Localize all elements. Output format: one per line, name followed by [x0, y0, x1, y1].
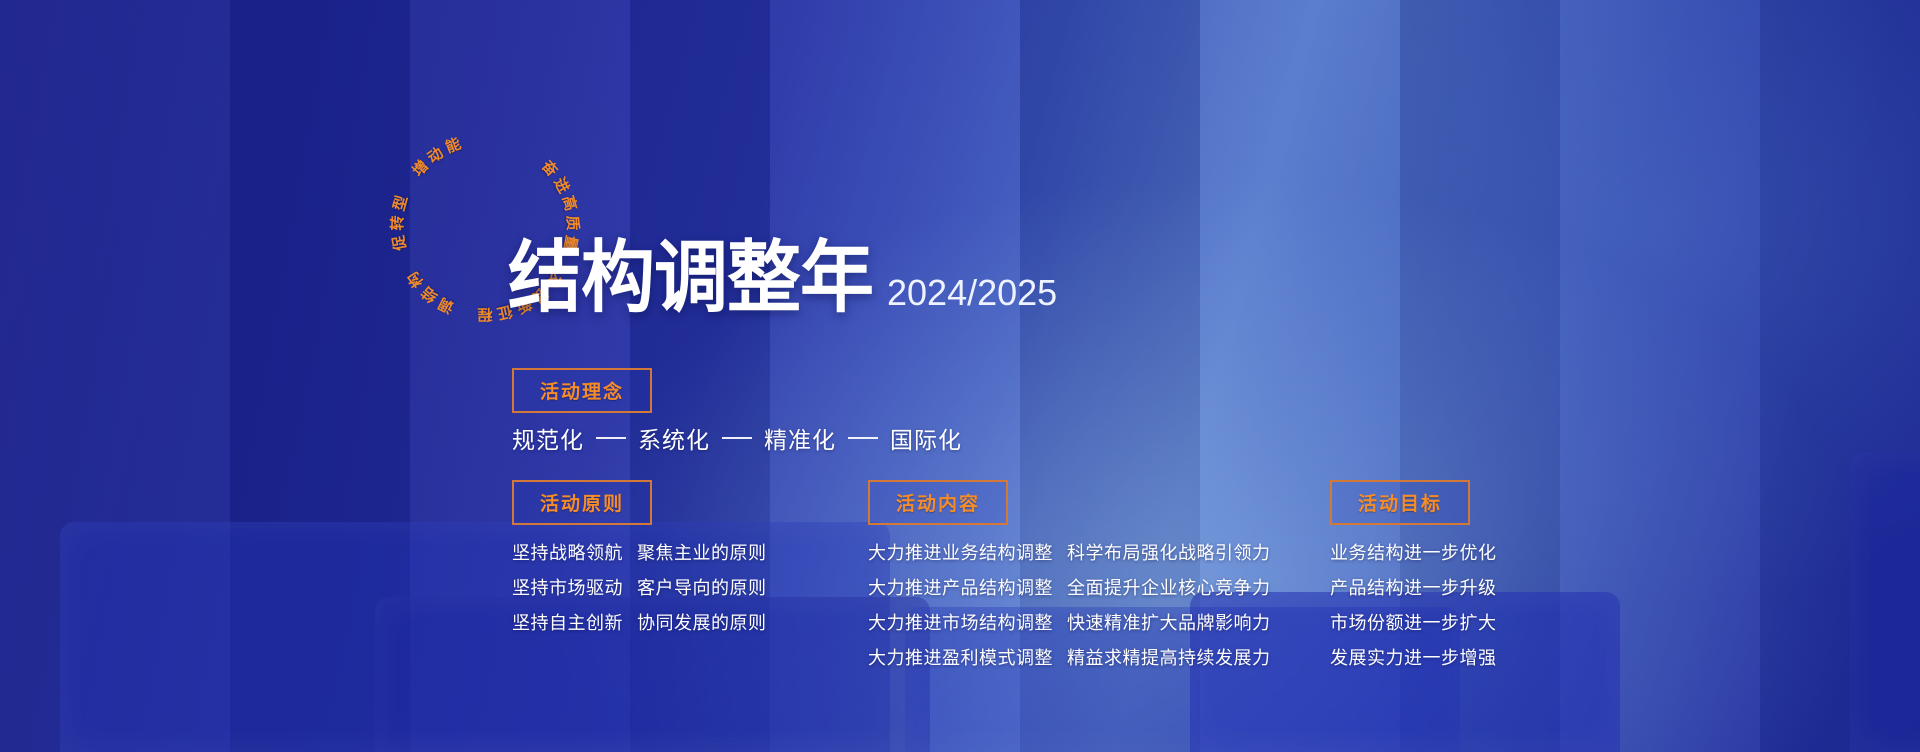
list-item: 坚持市场驱动客户导向的原则	[512, 574, 767, 600]
list-item-primary: 大力推进产品结构调整	[868, 574, 1053, 600]
concept-item: 国际化	[890, 421, 962, 455]
list-item-secondary: 客户导向的原则	[637, 574, 767, 600]
concept-separator	[722, 437, 752, 439]
list-item-primary: 发展实力进一步增强	[1330, 644, 1497, 670]
badge-principles[interactable]: 活动原则	[512, 480, 652, 525]
list-item-secondary: 快速精准扩大品牌影响力	[1067, 609, 1271, 635]
list-item-secondary: 科学布局强化战略引领力	[1067, 539, 1271, 565]
list-item-secondary: 协同发展的原则	[637, 609, 767, 635]
goals-rows: 业务结构进一步优化产品结构进一步升级市场份额进一步扩大发展实力进一步增强	[1330, 539, 1497, 670]
principles-rows: 坚持战略领航聚焦主业的原则坚持市场驱动客户导向的原则坚持自主创新协同发展的原则	[512, 539, 767, 635]
list-item-primary: 坚持自主创新	[512, 609, 623, 635]
concept-separator	[596, 437, 626, 439]
contents-badge-wrap: 活动内容	[868, 480, 1271, 525]
list-item: 发展实力进一步增强	[1330, 644, 1497, 670]
list-item: 大力推进市场结构调整快速精准扩大品牌影响力	[868, 609, 1271, 635]
list-item: 产品结构进一步升级	[1330, 574, 1497, 600]
list-item-primary: 业务结构进一步优化	[1330, 539, 1497, 565]
list-item: 业务结构进一步优化	[1330, 539, 1497, 565]
list-item-primary: 大力推进业务结构调整	[868, 539, 1053, 565]
concept-item: 规范化	[512, 421, 584, 455]
list-item: 大力推进盈利模式调整精益求精提高持续发展力	[868, 644, 1271, 670]
list-item: 大力推进产品结构调整全面提升企业核心竞争力	[868, 574, 1271, 600]
list-item: 坚持战略领航聚焦主业的原则	[512, 539, 767, 565]
concept-item: 精准化	[764, 421, 836, 455]
year-range-label: 2024/2025	[887, 275, 1057, 317]
list-item-primary: 大力推进市场结构调整	[868, 609, 1053, 635]
list-item-primary: 大力推进盈利模式调整	[868, 644, 1053, 670]
column-goals: 活动目标 业务结构进一步优化产品结构进一步升级市场份额进一步扩大发展实力进一步增…	[1330, 480, 1497, 670]
list-item-secondary: 全面提升企业核心竞争力	[1067, 574, 1271, 600]
list-item-secondary: 精益求精提高持续发展力	[1067, 644, 1271, 670]
contents-rows: 大力推进业务结构调整科学布局强化战略引领力大力推进产品结构调整全面提升企业核心竞…	[868, 539, 1271, 670]
banner-canvas: 奋进高质量发展新征程调结构促转型增动能 结构调整年 2024/2025 活动理念…	[0, 0, 1920, 752]
list-item: 大力推进业务结构调整科学布局强化战略引领力	[868, 539, 1271, 565]
list-item: 市场份额进一步扩大	[1330, 609, 1497, 635]
principles-badge-wrap: 活动原则	[512, 480, 767, 525]
list-item-secondary: 聚焦主业的原则	[637, 539, 767, 565]
list-item-primary: 产品结构进一步升级	[1330, 574, 1497, 600]
concept-item-list: 规范化系统化精准化国际化	[512, 421, 962, 455]
list-item-primary: 坚持市场驱动	[512, 574, 623, 600]
banner-title-row: 结构调整年 2024/2025	[508, 243, 1057, 317]
list-item: 坚持自主创新协同发展的原则	[512, 609, 767, 635]
badge-concept[interactable]: 活动理念	[512, 368, 652, 413]
list-item-primary: 市场份额进一步扩大	[1330, 609, 1497, 635]
concept-item: 系统化	[638, 421, 710, 455]
list-item-primary: 坚持战略领航	[512, 539, 623, 565]
badge-goals[interactable]: 活动目标	[1330, 480, 1470, 525]
column-contents: 活动内容 大力推进业务结构调整科学布局强化战略引领力大力推进产品结构调整全面提升…	[868, 480, 1271, 670]
goals-badge-wrap: 活动目标	[1330, 480, 1497, 525]
concept-badge-wrap: 活动理念	[512, 368, 652, 413]
concept-separator	[848, 437, 878, 439]
badge-contents[interactable]: 活动内容	[868, 480, 1008, 525]
page-title: 结构调整年	[508, 239, 873, 317]
column-principles: 活动原则 坚持战略领航聚焦主业的原则坚持市场驱动客户导向的原则坚持自主创新协同发…	[512, 480, 767, 635]
